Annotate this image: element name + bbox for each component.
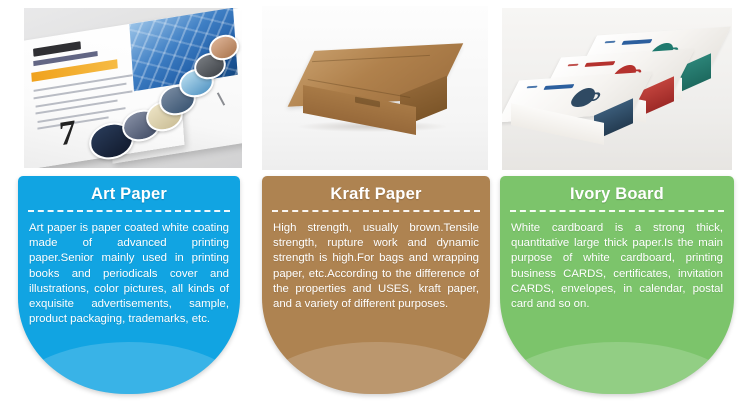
card-description: Art paper is paper coated white coating … xyxy=(18,212,240,327)
ivory-box-front xyxy=(511,76,640,151)
product-paper-types-banner: 7 Art Paper Art paper is paper coated wh… xyxy=(0,0,750,410)
photo-ivory-board xyxy=(502,8,732,170)
card-bottom-sheen xyxy=(500,342,734,394)
card-description: High strength, usually brown.Tensile str… xyxy=(262,212,490,312)
card-kraft-paper: Kraft Paper High strength, usually brown… xyxy=(262,176,490,394)
card-ivory-board: Ivory Board White cardboard is a strong … xyxy=(500,176,734,394)
card-title: Ivory Board xyxy=(500,176,734,204)
card-bottom-sheen xyxy=(18,342,240,394)
paper-type-column-kraft-paper: Kraft Paper High strength, usually brown… xyxy=(250,0,492,410)
paper-type-column-art-paper: 7 Art Paper Art paper is paper coated wh… xyxy=(0,0,242,410)
brochure-number-seven: 7 xyxy=(58,115,77,152)
card-title: Kraft Paper xyxy=(262,176,490,204)
photo-kraft-paper xyxy=(262,6,488,170)
card-bottom-sheen xyxy=(262,342,490,394)
card-description: White cardboard is a strong thick, quant… xyxy=(500,212,734,312)
paper-type-column-ivory-board: Ivory Board White cardboard is a strong … xyxy=(494,0,736,410)
photo-art-paper: 7 xyxy=(24,8,242,168)
card-art-paper: Art Paper Art paper is paper coated whit… xyxy=(18,176,240,394)
card-title: Art Paper xyxy=(18,176,240,204)
